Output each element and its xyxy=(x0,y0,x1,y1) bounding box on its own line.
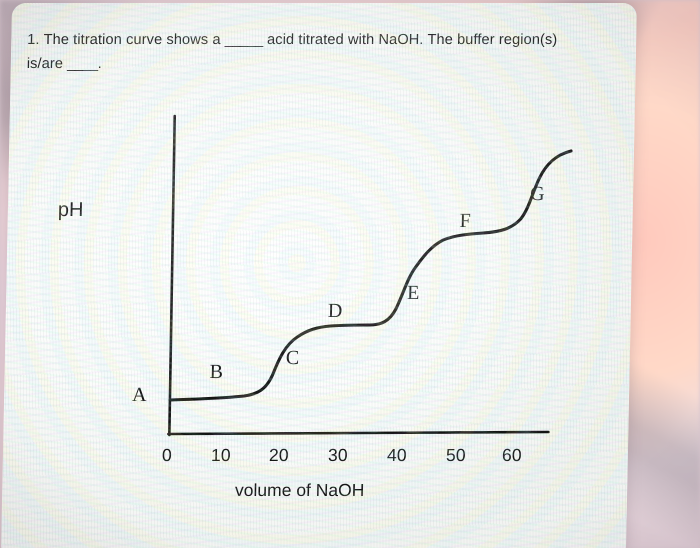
curve-label-f: F xyxy=(459,210,471,233)
x-tick-label-30: 30 xyxy=(321,445,355,466)
y-axis-title: pH xyxy=(58,199,84,222)
y-axis-line xyxy=(168,116,175,435)
x-tick-label-0: 0 xyxy=(150,445,184,466)
x-tick-label-10: 10 xyxy=(204,445,238,466)
titration-chart: pH 0 10 20 30 40 50 60 volume of NaOH A … xyxy=(1,3,637,548)
titration-curve-path xyxy=(170,151,571,400)
slide-card: 1. The titration curve shows a _____ aci… xyxy=(1,3,637,548)
curve-label-e: E xyxy=(407,282,420,305)
curve-label-c: C xyxy=(286,347,300,370)
curve-label-a: A xyxy=(132,384,147,407)
photo-of-screen: 1. The titration curve shows a _____ aci… xyxy=(0,0,700,548)
x-axis-line xyxy=(168,432,548,434)
x-tick-label-60: 60 xyxy=(495,445,529,466)
curve-label-d: D xyxy=(328,300,343,323)
x-tick-label-20: 20 xyxy=(262,445,296,466)
x-tick-label-50: 50 xyxy=(439,445,473,466)
chart-svg xyxy=(1,3,637,548)
x-tick-label-40: 40 xyxy=(380,445,414,466)
curve-label-g: G xyxy=(530,183,545,206)
x-axis-title: volume of NaOH xyxy=(2,480,597,501)
curve-label-b: B xyxy=(209,361,223,384)
